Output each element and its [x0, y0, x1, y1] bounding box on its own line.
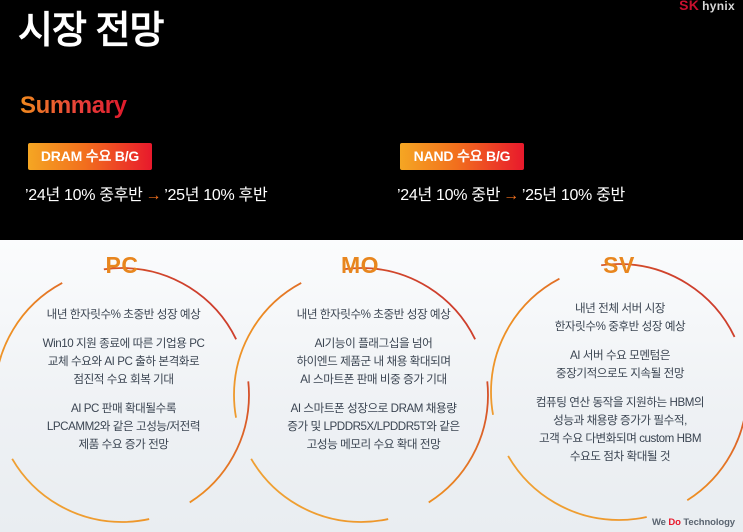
venn-text-mo: 내년 한자릿수% 초중반 성장 예상 AI기능이 플래그십을 넘어하이엔드 제품… [256, 306, 491, 454]
arrow-right-icon: → [143, 187, 165, 204]
nand-from-value: ’24년 10% 중반 [397, 187, 500, 204]
venn-mo-paragraph: 내년 한자릿수% 초중반 성장 예상 [256, 306, 491, 324]
venn-label-pc: PC [72, 252, 172, 279]
slide-root: SKhynix 시장 전망 Summary DRAM 수요 B/G ’24년 1… [0, 0, 743, 532]
footer-we: We [652, 517, 668, 528]
sk-logo-text: SK [679, 0, 699, 13]
venn-text-sv: 내년 전체 서버 시장한자릿수% 중후반 성장 예상 AI 서버 수요 모멘텀은… [498, 300, 742, 466]
footer-tagline: We Do Technology [652, 517, 735, 528]
hynix-logo-text: hynix [702, 0, 735, 13]
summary-line-nand: ’24년 10% 중반→’25년 10% 중반 [397, 181, 625, 205]
venn-sv-paragraph: AI 서버 수요 모멘텀은중장기적으로도 지속될 전망 [498, 347, 742, 383]
arrow-right-icon: → [500, 187, 522, 204]
venn-sv-paragraph: 컴퓨팅 연산 동작을 지원하는 HBM의성능과 채용량 증가가 필수적,고객 수… [498, 394, 742, 466]
venn-pc-paragraph: Win10 지원 종료에 따른 기업용 PC교체 수요와 AI PC 출하 본격… [6, 335, 241, 389]
venn-pc-paragraph: 내년 한자릿수% 초중반 성장 예상 [6, 306, 241, 324]
venn-section: PC MO SV 내년 한자릿수% 초중반 성장 예상 Win10 지원 종료에… [0, 240, 743, 532]
badge-dram-demand: DRAM 수요 B/G [28, 143, 152, 170]
footer-do: Do [668, 517, 680, 528]
badge-nand-demand: NAND 수요 B/G [400, 143, 524, 170]
footer-technology: Technology [681, 517, 735, 528]
section-heading-summary: Summary [20, 92, 127, 120]
venn-mo-paragraph: AI기능이 플래그십을 넘어하이엔드 제품군 내 채용 확대되며AI 스마트폰 … [256, 335, 491, 389]
dram-to-value: ’25년 10% 후반 [164, 187, 267, 204]
venn-mo-paragraph: AI 스마트폰 성장으로 DRAM 채용량증가 및 LPDDR5X/LPDDR5… [256, 400, 491, 454]
dram-from-value: ’24년 10% 중후반 [25, 187, 143, 204]
venn-pc-paragraph: AI PC 판매 확대될수록LPCAMM2와 같은 고성능/저전력제품 수요 증… [6, 400, 241, 454]
venn-text-pc: 내년 한자릿수% 초중반 성장 예상 Win10 지원 종료에 따른 기업용 P… [6, 306, 241, 454]
nand-to-value: ’25년 10% 중반 [522, 187, 625, 204]
summary-line-dram: ’24년 10% 중후반→’25년 10% 후반 [25, 181, 267, 205]
venn-label-sv: SV [569, 252, 669, 279]
header-band: SKhynix 시장 전망 Summary DRAM 수요 B/G ’24년 1… [0, 0, 743, 240]
page-title: 시장 전망 [18, 8, 163, 54]
venn-sv-paragraph: 내년 전체 서버 시장한자릿수% 중후반 성장 예상 [498, 300, 742, 336]
sk-hynix-logo: SKhynix [679, 0, 735, 13]
venn-label-mo: MO [310, 252, 410, 279]
